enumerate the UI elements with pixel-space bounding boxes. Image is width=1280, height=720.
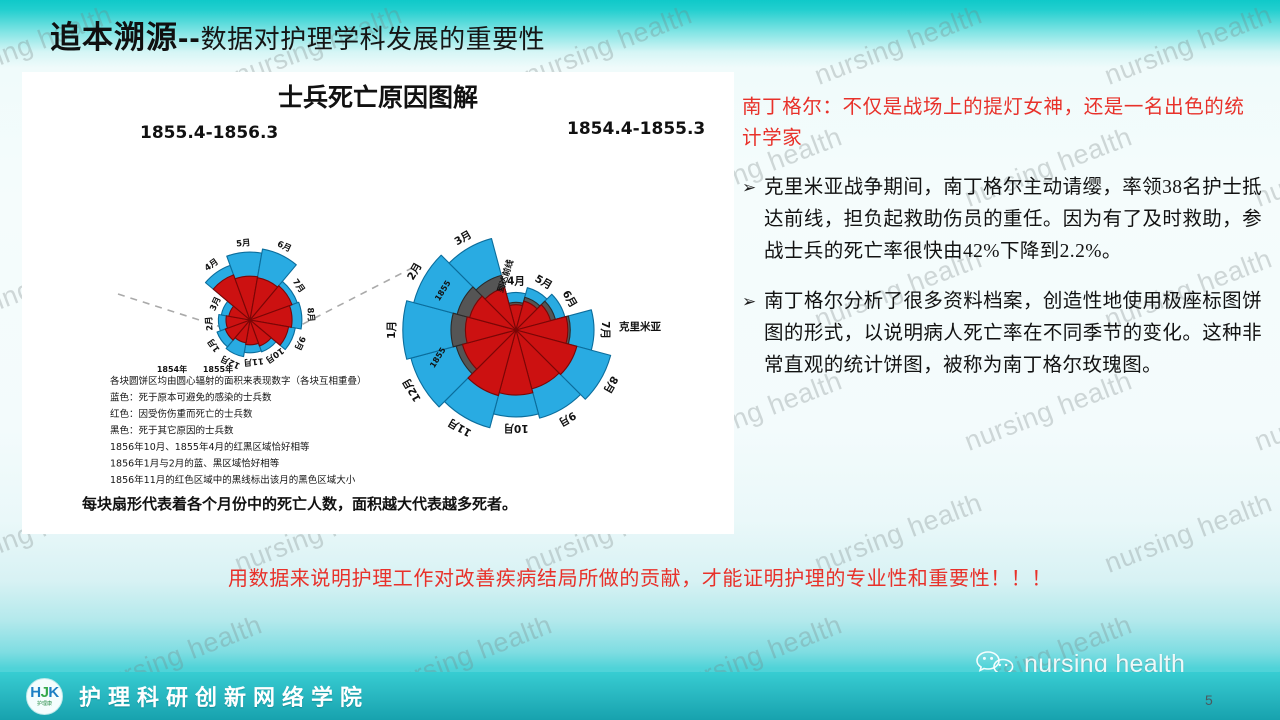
rose-month-label: 6月 — [275, 239, 292, 254]
right-rose-chart: 4月5月6月7月8月9月10月11月12月1月2月3月 — [386, 229, 620, 439]
rose-month-label: 3月 — [452, 229, 473, 248]
watermark-text: nursing health — [810, 0, 986, 92]
rose-year-mark: 1855年 — [203, 364, 233, 374]
rose-month-label: 6月 — [560, 288, 579, 309]
bullet-text: 克里米亚战争期间，南丁格尔主动请缨，率领38名护士抵达前线，担负起救助伤员的重任… — [764, 172, 1262, 268]
rose-annotation: 克里米亚 — [619, 320, 661, 333]
page-title-rest: 数据对护理学科发展的重要性 — [201, 24, 546, 54]
logo-subtext: 护理康 — [37, 702, 52, 707]
left-period-label: 1855.4-1856.3 — [140, 123, 278, 143]
logo-initials: HJK — [30, 685, 59, 700]
legend-line: 1856年1月与2月的蓝、黑区域恰好相等 — [110, 458, 280, 470]
rose-month-label: 7月 — [599, 321, 611, 339]
rose-month-label: 5月 — [236, 238, 251, 249]
rose-month-label: 5月 — [533, 273, 554, 292]
rose-month-label: 8月 — [304, 307, 315, 322]
bullet-arrow-icon: ➢ — [742, 286, 764, 382]
bullet-item: ➢ 南丁格尔分析了很多资料档案，创造性地使用极座标图饼图的形式，以说明病人死亡率… — [742, 286, 1262, 382]
figure-title: 士兵死亡原因图解 — [278, 83, 478, 112]
bullet-arrow-icon: ➢ — [742, 172, 764, 268]
rose-month-label: 11月 — [243, 355, 264, 367]
rose-month-label: 10月 — [503, 422, 528, 434]
legend-line: 1856年11月的红色区域中的黑线标出该月的黑色区域大小 — [110, 474, 356, 486]
watermark-text: nursing health — [1100, 0, 1276, 92]
page-number: 5 — [1205, 692, 1213, 708]
footer-bar: HJK 护理康 护理科研创新网络学院 — [0, 672, 1280, 720]
footer-title: 护理科研创新网络学院 — [79, 680, 369, 712]
bullet-text: 南丁格尔分析了很多资料档案，创造性地使用极座标图饼图的形式，以说明病人死亡率在不… — [764, 286, 1262, 382]
left-rose-chart: 4月5月6月7月8月9月10月11月12月1月2月3月 — [203, 238, 316, 370]
legend-line: 1856年10月、1855年4月的红黑区域恰好相等 — [110, 441, 310, 453]
rose-month-label: 1月 — [386, 321, 398, 339]
rose-month-label: 9月 — [556, 409, 577, 428]
rose-month-label: 8月 — [601, 374, 620, 395]
legend-line: 各块圆饼区均由圆心辐射的面积来表现数字（各块互相重叠） — [110, 375, 367, 387]
legend-line: 红色：因受伤伤重而死亡的士兵数 — [110, 408, 253, 420]
legend-line: 蓝色：死于原本可避免的感染的士兵数 — [110, 392, 272, 404]
figure-legend: 各块圆饼区均由圆心辐射的面积来表现数字（各块互相重叠）蓝色：死于原本可避免的感染… — [110, 375, 367, 486]
rose-year-mark: 1854年 — [157, 364, 187, 374]
figure-caption: 每块扇形代表着各个月份中的死亡人数，面积越大代表越多死者。 — [82, 495, 517, 513]
page-title: 追本溯源--数据对护理学科发展的重要性 — [50, 12, 545, 57]
nightingale-figure-panel: 士兵死亡原因图解 1855.4-1856.3 1854.4-1855.3 4月5… — [22, 72, 734, 534]
right-period-label: 1854.4-1855.3 — [567, 119, 705, 139]
nightingale-rose-diagram: 士兵死亡原因图解 1855.4-1856.3 1854.4-1855.3 4月5… — [22, 72, 734, 534]
page-title-strong: 追本溯源-- — [50, 20, 201, 55]
bullet-item: ➢ 克里米亚战争期间，南丁格尔主动请缨，率领38名护士抵达前线，担负起救助伤员的… — [742, 172, 1262, 268]
legend-line: 黑色：死于其它原因的士兵数 — [110, 425, 234, 437]
institution-logo-icon: HJK 护理康 — [26, 678, 63, 715]
rose-month-label: 3月 — [208, 295, 223, 312]
rose-month-label: 2月 — [204, 316, 215, 331]
lead-statement: 南丁格尔：不仅是战场上的提灯女神，还是一名出色的统计学家 — [742, 92, 1262, 154]
content-text-column: 南丁格尔：不仅是战场上的提灯女神，还是一名出色的统计学家 ➢ 克里米亚战争期间，… — [742, 92, 1262, 382]
emphasis-caption: 用数据来说明护理工作对改善疾病结局所做的贡献，才能证明护理的专业性和重要性！！！ — [0, 562, 1280, 591]
rose-month-label: 2月 — [405, 261, 424, 282]
rose-month-label: 9月 — [292, 334, 307, 351]
